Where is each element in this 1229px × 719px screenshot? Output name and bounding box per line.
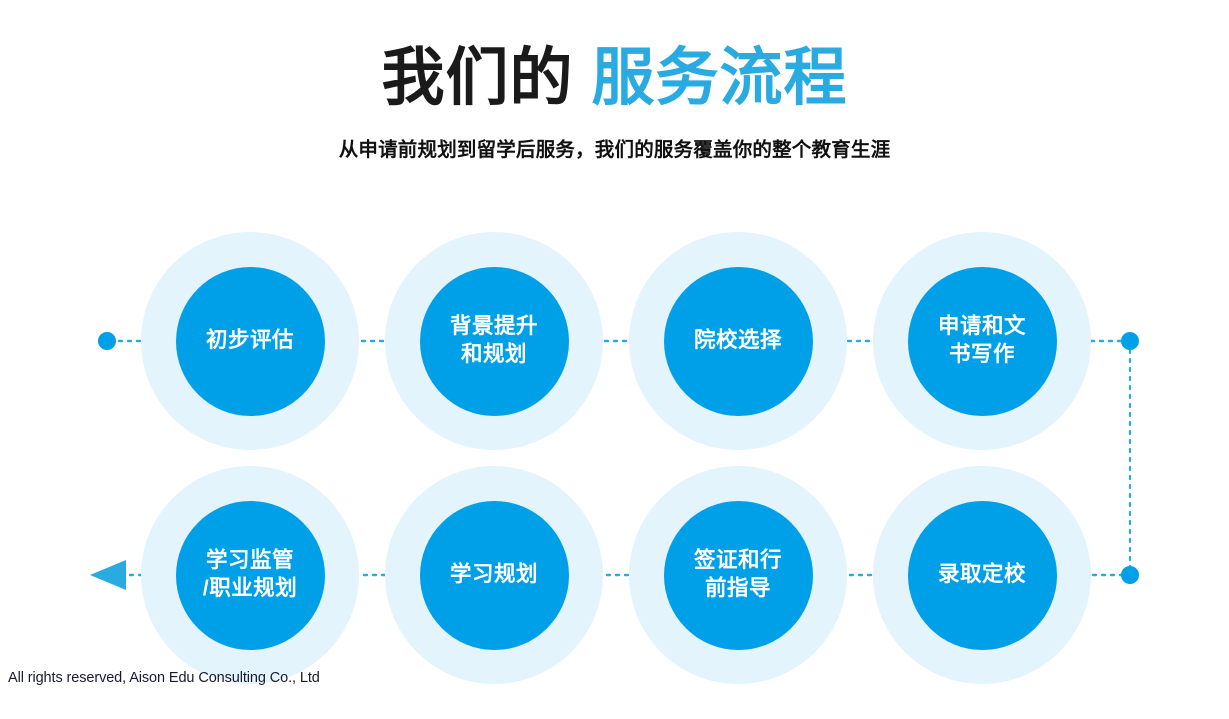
- flow-node-core: 录取定校: [908, 501, 1057, 650]
- flow-node-core: 初步评估: [176, 267, 325, 416]
- flow-node-core: 学习规划: [420, 501, 569, 650]
- flow-node-label: 签证和行 前指导: [688, 547, 788, 602]
- flow-node-step-6[interactable]: 学习规划: [385, 466, 603, 684]
- flow-node-step-8[interactable]: 录取定校: [873, 466, 1091, 684]
- flow-node-label: 学习规划: [444, 561, 544, 589]
- service-flow-diagram: 初步评估 背景提升 和规划 院校选择 申请和文 书写作 学习监管 /职业规划: [0, 0, 1229, 719]
- flow-node-core: 背景提升 和规划: [420, 267, 569, 416]
- flow-node-core: 学习监管 /职业规划: [176, 501, 325, 650]
- wrap-dot-top-right: [1121, 332, 1139, 350]
- flow-node-core: 签证和行 前指导: [664, 501, 813, 650]
- flow-node-label: 学习监管 /职业规划: [197, 547, 303, 602]
- flow-node-step-3[interactable]: 院校选择: [629, 232, 847, 450]
- flow-node-label: 背景提升 和规划: [444, 313, 544, 368]
- flow-node-core: 院校选择: [664, 267, 813, 416]
- flow-node-label: 录取定校: [932, 561, 1032, 589]
- flow-node-core: 申请和文 书写作: [908, 267, 1057, 416]
- flow-node-label: 申请和文 书写作: [932, 313, 1032, 368]
- flow-node-step-4[interactable]: 申请和文 书写作: [873, 232, 1091, 450]
- start-dot-top-left: [98, 332, 116, 350]
- flow-node-step-5[interactable]: 学习监管 /职业规划: [141, 466, 359, 684]
- wrap-dot-bottom-right: [1121, 566, 1139, 584]
- flow-node-step-1[interactable]: 初步评估: [141, 232, 359, 450]
- flow-node-step-2[interactable]: 背景提升 和规划: [385, 232, 603, 450]
- flow-node-label: 院校选择: [688, 327, 788, 355]
- flow-node-label: 初步评估: [200, 327, 300, 355]
- flow-node-step-7[interactable]: 签证和行 前指导: [629, 466, 847, 684]
- copyright-note: All rights reserved, Aison Edu Consultin…: [8, 670, 320, 686]
- slide-canvas: 我们的服务流程 从申请前规划到留学后服务，我们的服务覆盖你的整个教育生涯 初步评…: [0, 0, 1229, 719]
- end-arrow-bottom-left: [90, 560, 126, 590]
